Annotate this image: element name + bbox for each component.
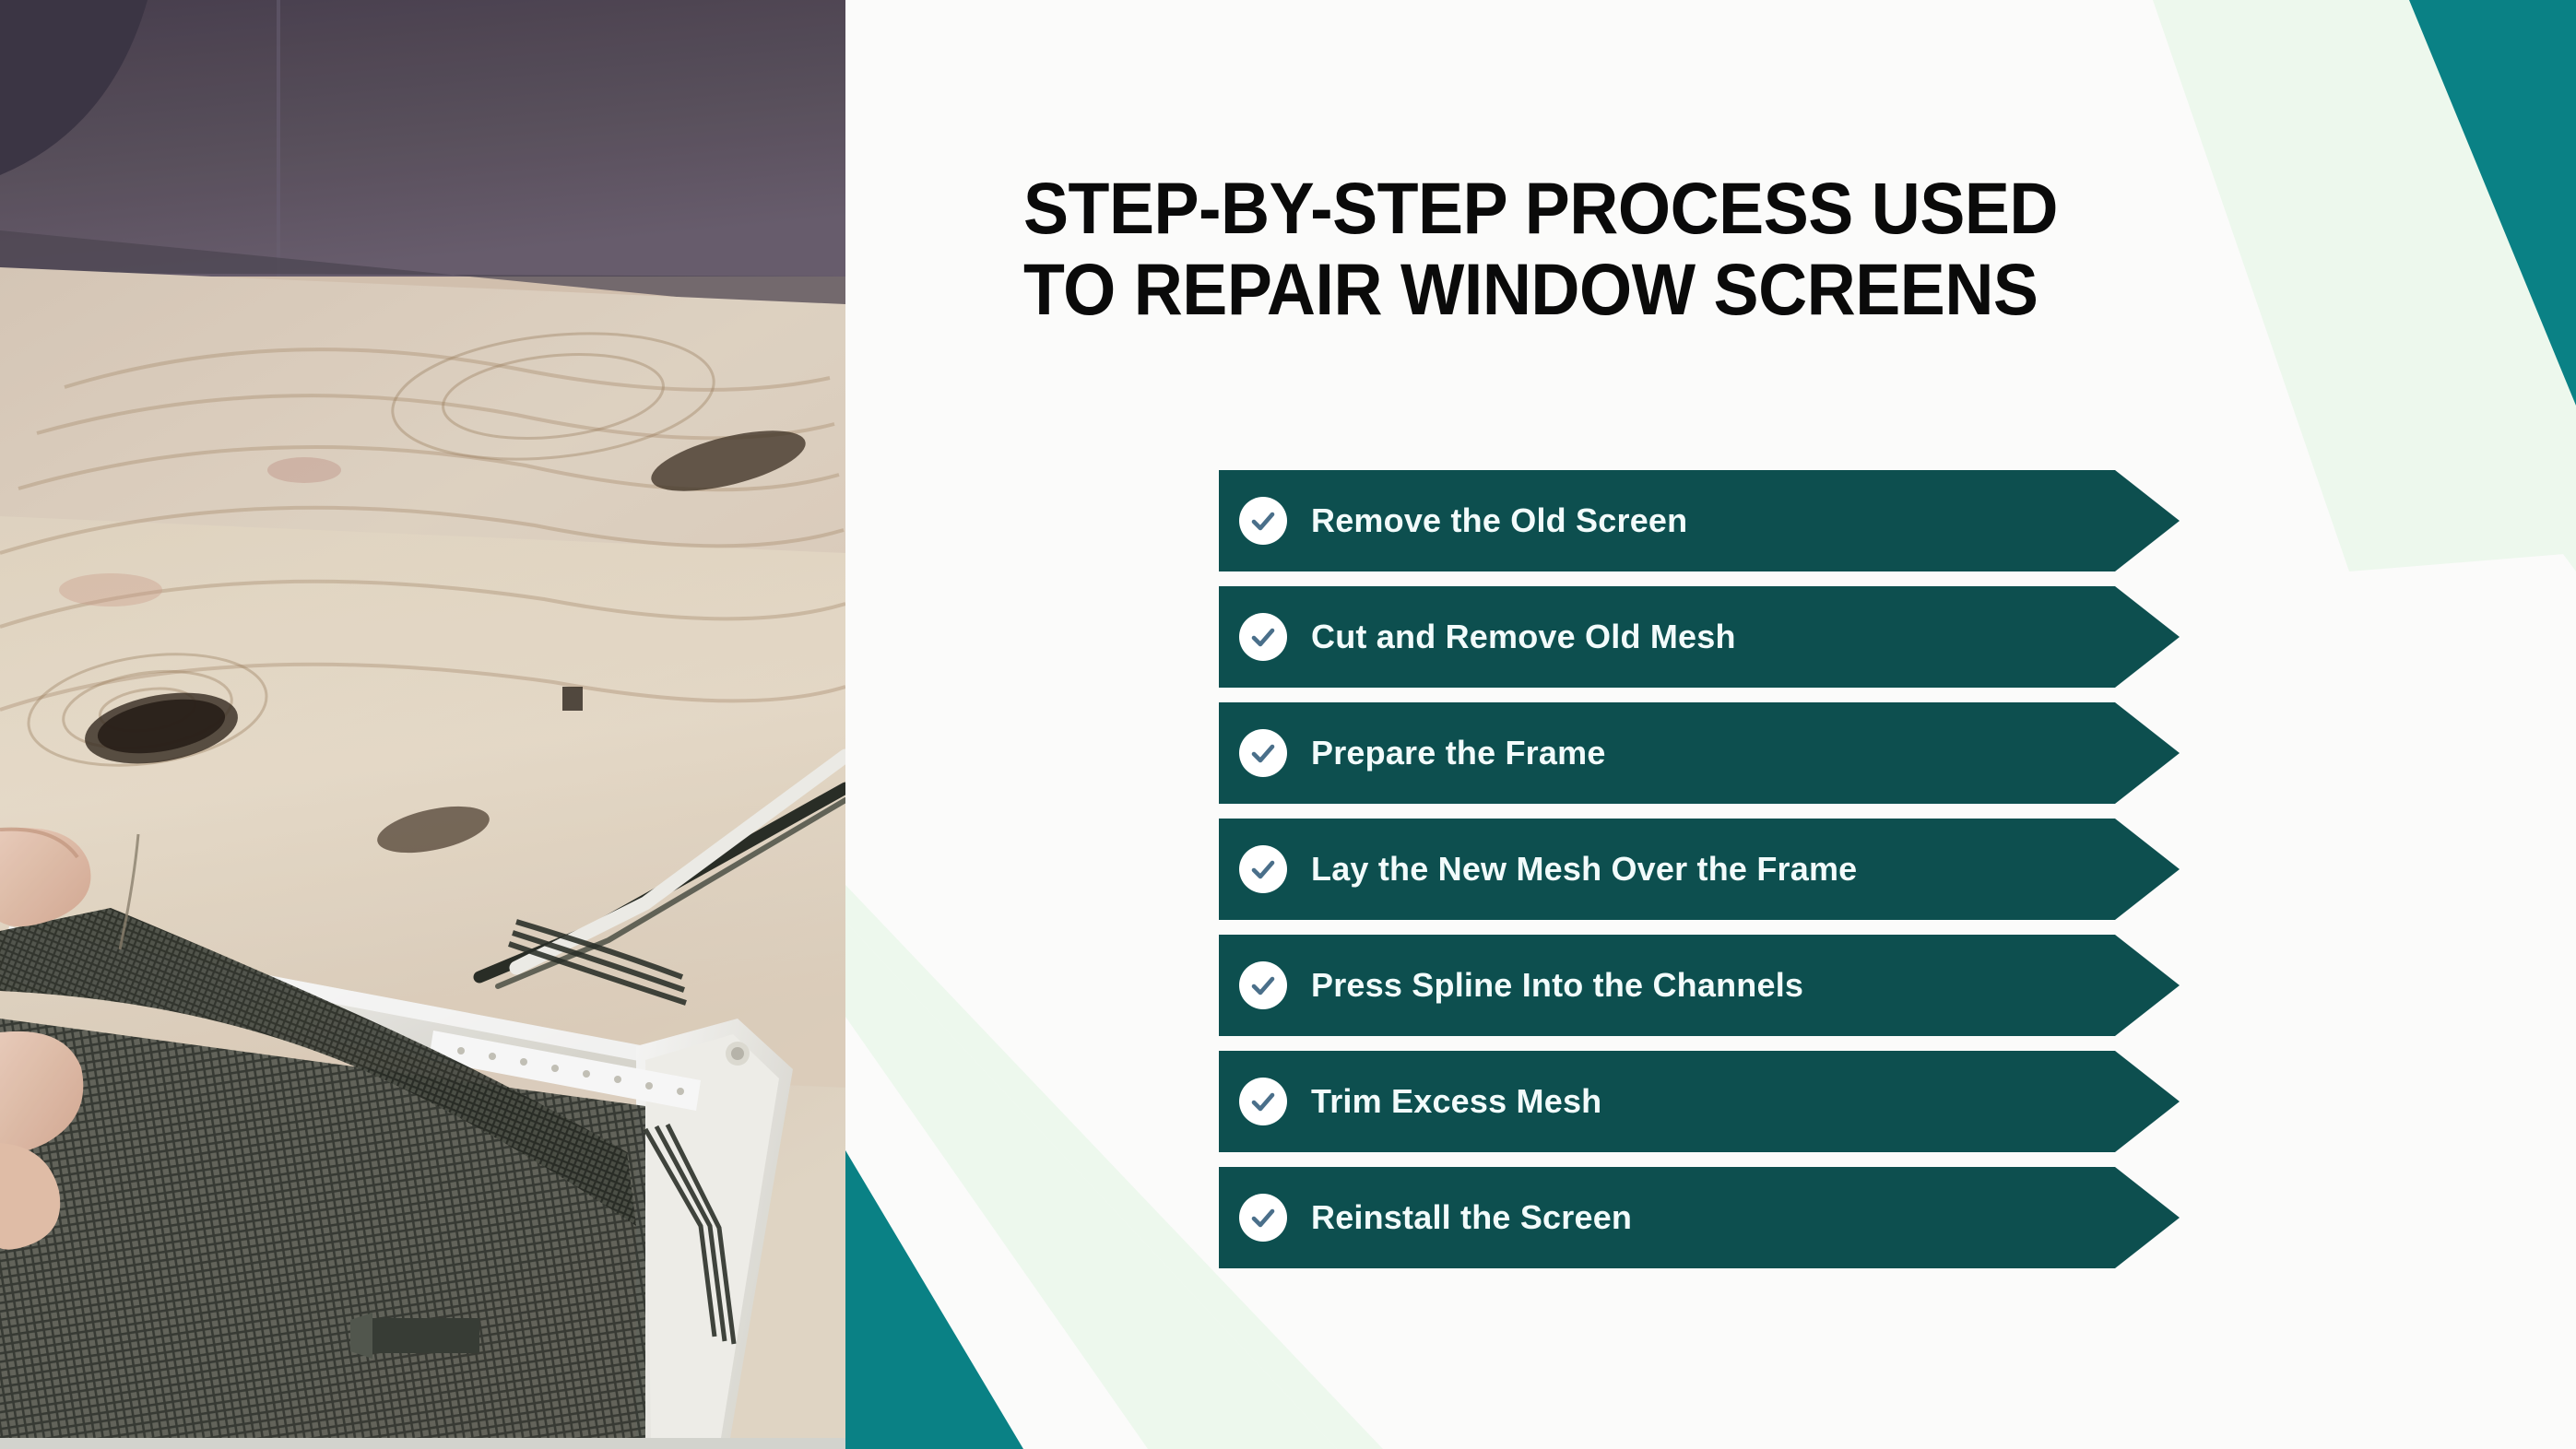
check-circle-icon — [1239, 1078, 1287, 1125]
steps-list: Remove the Old Screen Cut and Remove Old… — [1219, 470, 2251, 1283]
slide-root: STEP-BY-STEP PROCESS USED TO REPAIR WIND… — [0, 0, 2576, 1449]
list-item-label: Cut and Remove Old Mesh — [1311, 618, 1736, 656]
check-mark-icon — [1248, 854, 1278, 884]
list-item-label: Remove the Old Screen — [1311, 501, 1687, 540]
check-circle-icon — [1239, 961, 1287, 1009]
check-circle-icon — [1239, 613, 1287, 661]
check-mark-icon — [1248, 738, 1278, 768]
list-item[interactable]: Lay the New Mesh Over the Frame — [1219, 819, 2251, 920]
check-mark-icon — [1248, 1087, 1278, 1116]
check-circle-icon — [1239, 497, 1287, 545]
list-item[interactable]: Cut and Remove Old Mesh — [1219, 586, 2251, 688]
check-mark-icon — [1248, 971, 1278, 1000]
check-mark-icon — [1248, 506, 1278, 536]
list-item-label: Trim Excess Mesh — [1311, 1082, 1601, 1121]
list-item[interactable]: Prepare the Frame — [1219, 702, 2251, 804]
list-item-label: Reinstall the Screen — [1311, 1198, 1632, 1237]
check-circle-icon — [1239, 1194, 1287, 1242]
window-screen-photo — [0, 0, 845, 1449]
content-column: STEP-BY-STEP PROCESS USED TO REPAIR WIND… — [845, 0, 2576, 1449]
list-item[interactable]: Reinstall the Screen — [1219, 1167, 2251, 1268]
list-item-label: Prepare the Frame — [1311, 734, 1606, 772]
check-circle-icon — [1239, 729, 1287, 777]
list-item[interactable]: Trim Excess Mesh — [1219, 1051, 2251, 1152]
list-item[interactable]: Press Spline Into the Channels — [1219, 935, 2251, 1036]
check-mark-icon — [1248, 622, 1278, 652]
page-title: STEP-BY-STEP PROCESS USED TO REPAIR WIND… — [1023, 168, 2361, 331]
check-mark-icon — [1248, 1203, 1278, 1232]
check-circle-icon — [1239, 845, 1287, 893]
list-item-label: Lay the New Mesh Over the Frame — [1311, 850, 1857, 889]
list-item[interactable]: Remove the Old Screen — [1219, 470, 2251, 571]
list-item-label: Press Spline Into the Channels — [1311, 966, 1803, 1005]
